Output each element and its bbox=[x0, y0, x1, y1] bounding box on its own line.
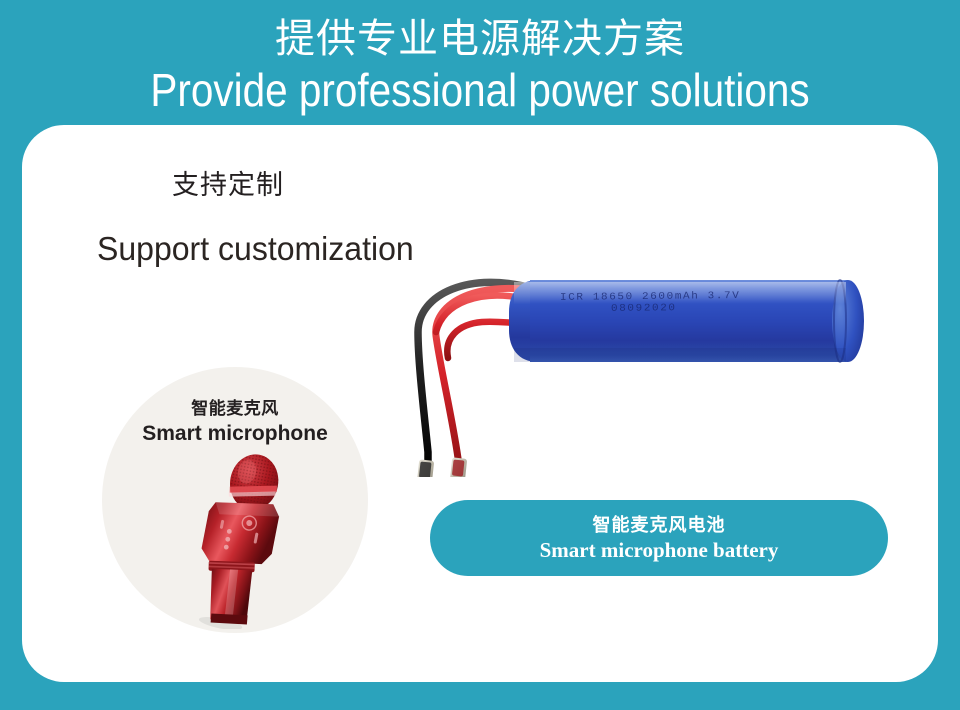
battery-caption-pill: 智能麦克风电池 Smart microphone battery bbox=[430, 500, 888, 576]
battery-terminal-black bbox=[416, 459, 434, 477]
battery-caption-chinese: 智能麦克风电池 bbox=[593, 513, 726, 537]
banner-title-english: Provide professional power solutions bbox=[58, 64, 903, 116]
product-circle-badge: 智能麦克风 Smart microphone bbox=[102, 367, 368, 633]
product-label-english: Smart microphone bbox=[102, 421, 368, 447]
battery-terminal-red bbox=[449, 457, 467, 477]
banner-header: 提供专业电源解决方案 Provide professional power so… bbox=[0, 14, 960, 116]
customization-heading-chinese: 支持定制 bbox=[172, 168, 284, 202]
slide-canvas: 提供专业电源解决方案 Provide professional power so… bbox=[0, 0, 960, 710]
battery-bottom-shadow bbox=[514, 348, 846, 362]
battery-caption-english: Smart microphone battery bbox=[540, 537, 779, 563]
battery-illustration bbox=[410, 262, 880, 477]
battery-gloss-highlight bbox=[514, 282, 846, 304]
customization-heading-english: Support customization bbox=[97, 228, 414, 270]
banner-title-chinese: 提供专业电源解决方案 bbox=[0, 14, 960, 64]
product-label-chinese: 智能麦克风 bbox=[102, 398, 368, 420]
microphone-illustration bbox=[162, 449, 312, 629]
